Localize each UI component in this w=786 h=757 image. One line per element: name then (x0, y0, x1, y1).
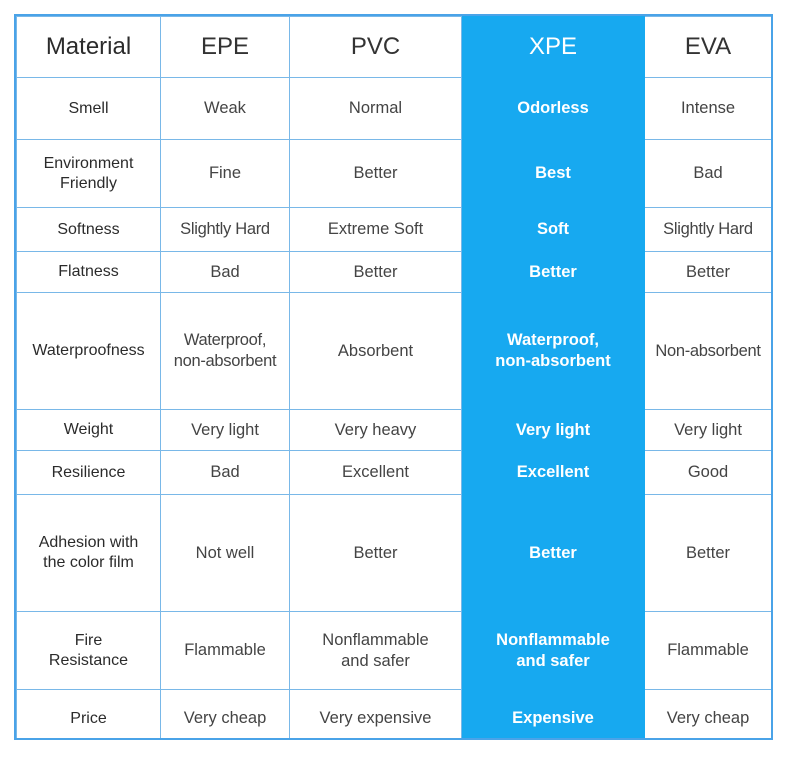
row-label-resilience: Resilience (17, 451, 161, 495)
cell-xpe-price: Expensive (462, 690, 645, 741)
column-header-material: Material (17, 17, 161, 78)
row-label-weight: Weight (17, 410, 161, 451)
cell-eva-weight: Very light (645, 410, 772, 451)
cell-pvc-resilience: Excellent (290, 451, 462, 495)
cell-eva-adhesion: Better (645, 495, 772, 612)
header-row: Material EPE PVC XPE EVA (17, 17, 772, 78)
cell-epe-weight: Very light (161, 410, 290, 451)
row-label-adhesion-with-the-color-film: Adhesion with the color film (17, 495, 161, 612)
comparison-table-frame: Material EPE PVC XPE EVA Smell Weak Norm… (14, 14, 773, 740)
cell-eva-smell: Intense (645, 78, 772, 140)
cell-eva-resilience: Good (645, 451, 772, 495)
cell-pvc-adhesion: Better (290, 495, 462, 612)
cell-xpe-fire-resistance: Nonflammable and safer (462, 612, 645, 690)
table-row: Waterproofness Waterproof, non-absorbent… (17, 293, 772, 410)
row-label-softness: Softness (17, 208, 161, 252)
cell-line1: Nonflammable (496, 631, 610, 649)
table-header: Material EPE PVC XPE EVA (17, 17, 772, 78)
table-row: Smell Weak Normal Odorless Intense (17, 78, 772, 140)
cell-line2: and safer (516, 652, 589, 670)
table-row: Price Very cheap Very expensive Expensiv… (17, 690, 772, 741)
table-row: Fire Resistance Flammable Nonflammable a… (17, 612, 772, 690)
cell-epe-smell: Weak (161, 78, 290, 140)
row-label-line2: the color film (43, 554, 134, 571)
column-header-eva: EVA (645, 17, 772, 78)
row-label-line1: Environment (44, 155, 134, 172)
cell-pvc-flatness: Better (290, 252, 462, 293)
cell-pvc-softness: Extreme Soft (290, 208, 462, 252)
table-row: Environment Friendly Fine Better Best Ba… (17, 140, 772, 208)
cell-epe-waterproofness: Waterproof, non-absorbent (161, 293, 290, 410)
cell-pvc-environment-friendly: Better (290, 140, 462, 208)
cell-epe-softness: Slightly Hard (161, 208, 290, 252)
cell-epe-price: Very cheap (161, 690, 290, 741)
row-label-price: Price (17, 690, 161, 741)
cell-xpe-weight: Very light (462, 410, 645, 451)
table-body: Smell Weak Normal Odorless Intense Envir… (17, 78, 772, 741)
table-row: Adhesion with the color film Not well Be… (17, 495, 772, 612)
cell-xpe-waterproofness: Waterproof, non-absorbent (462, 293, 645, 410)
cell-epe-flatness: Bad (161, 252, 290, 293)
cell-epe-fire-resistance: Flammable (161, 612, 290, 690)
cell-eva-environment-friendly: Bad (645, 140, 772, 208)
cell-xpe-softness: Soft (462, 208, 645, 252)
cell-epe-environment-friendly: Fine (161, 140, 290, 208)
cell-xpe-flatness: Better (462, 252, 645, 293)
row-label-fire-resistance: Fire Resistance (17, 612, 161, 690)
cell-pvc-smell: Normal (290, 78, 462, 140)
cell-pvc-fire-resistance: Nonflammable and safer (290, 612, 462, 690)
table-row: Resilience Bad Excellent Excellent Good (17, 451, 772, 495)
cell-line1: Waterproof, (184, 331, 266, 349)
cell-pvc-waterproofness: Absorbent (290, 293, 462, 410)
cell-epe-adhesion: Not well (161, 495, 290, 612)
page-root: Material EPE PVC XPE EVA Smell Weak Norm… (0, 0, 786, 757)
cell-eva-flatness: Better (645, 252, 772, 293)
cell-xpe-resilience: Excellent (462, 451, 645, 495)
row-label-line1: Fire (75, 632, 103, 649)
cell-line2: non-absorbent (174, 352, 277, 370)
cell-xpe-smell: Odorless (462, 78, 645, 140)
table-row: Softness Slightly Hard Extreme Soft Soft… (17, 208, 772, 252)
cell-pvc-price: Very expensive (290, 690, 462, 741)
cell-eva-price: Very cheap (645, 690, 772, 741)
row-label-environment-friendly: Environment Friendly (17, 140, 161, 208)
row-label-line1: Adhesion with (39, 534, 139, 551)
row-label-line2: Friendly (60, 175, 117, 192)
column-header-epe: EPE (161, 17, 290, 78)
cell-eva-softness: Slightly Hard (645, 208, 772, 252)
cell-xpe-environment-friendly: Best (462, 140, 645, 208)
cell-pvc-weight: Very heavy (290, 410, 462, 451)
cell-xpe-adhesion: Better (462, 495, 645, 612)
row-label-smell: Smell (17, 78, 161, 140)
cell-line1: Nonflammable (322, 631, 428, 649)
row-label-waterproofness: Waterproofness (17, 293, 161, 410)
cell-line2: and safer (341, 652, 410, 670)
cell-line2: non-absorbent (495, 352, 611, 370)
row-label-flatness: Flatness (17, 252, 161, 293)
cell-eva-waterproofness: Non-absorbent (645, 293, 772, 410)
cell-line1: Waterproof, (507, 331, 599, 349)
column-header-pvc: PVC (290, 17, 462, 78)
material-comparison-table: Material EPE PVC XPE EVA Smell Weak Norm… (16, 16, 772, 740)
cell-epe-resilience: Bad (161, 451, 290, 495)
row-label-line2: Resistance (49, 652, 128, 669)
cell-eva-fire-resistance: Flammable (645, 612, 772, 690)
table-row: Weight Very light Very heavy Very light … (17, 410, 772, 451)
column-header-xpe: XPE (462, 17, 645, 78)
table-row: Flatness Bad Better Better Better (17, 252, 772, 293)
